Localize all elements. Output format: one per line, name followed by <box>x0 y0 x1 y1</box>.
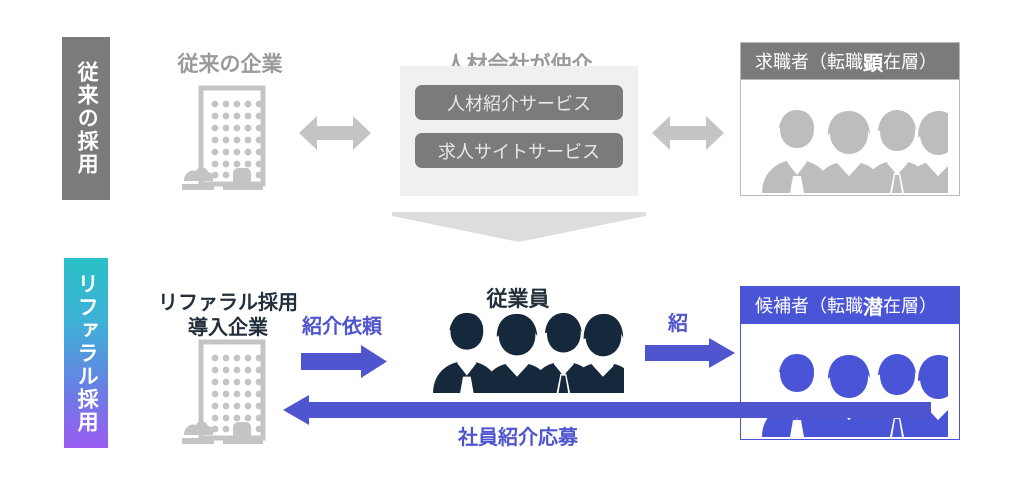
double-arrow-company-agency <box>299 112 371 154</box>
four-people-icon <box>412 310 624 393</box>
row-badge-legacy: 従来の採用 <box>62 37 110 200</box>
row-badge-referral: リファラル採用 <box>64 258 108 448</box>
referral-request-label: 紹介依頼 <box>302 310 382 339</box>
candidates-title-emphasis: 潜 <box>863 291 883 320</box>
employees-heading: 従業員 <box>487 283 550 313</box>
agency-panel: 人材紹介サービス 求人サイトサービス <box>400 66 638 196</box>
job-seekers-title-prefix: 求職者（転職 <box>755 48 863 74</box>
introduction-label: 紹 <box>668 307 694 336</box>
down-chevron-icon <box>392 212 646 242</box>
four-people-icon <box>752 107 948 193</box>
office-building-icon <box>178 82 286 192</box>
legacy-company-heading: 従来の企業 <box>178 48 283 78</box>
candidates-title: 候補者（転職潜在層） <box>741 287 959 323</box>
job-seekers-box: 求職者（転職顕在層） <box>740 42 960 196</box>
introduction-arrow <box>645 338 735 368</box>
employee-referral-application-arrow <box>283 395 931 425</box>
agency-service-pill-2[interactable]: 求人サイトサービス <box>415 133 623 168</box>
job-seekers-body <box>741 79 959 193</box>
referral-request-arrow <box>301 345 387 378</box>
job-seekers-title-suffix: 在層） <box>883 48 937 74</box>
employee-referral-application-label: 社員紹介応募 <box>458 421 578 450</box>
double-arrow-agency-seekers <box>652 112 724 154</box>
office-building-icon <box>178 336 286 446</box>
diagram-canvas: 従来の採用 従来の企業 人材会社が仲介 人材紹介サービス 求人サイトサービス <box>0 0 1024 478</box>
candidates-title-prefix: 候補者（転職 <box>755 292 863 318</box>
job-seekers-title-emphasis: 顕 <box>863 47 883 76</box>
job-seekers-title: 求職者（転職顕在層） <box>741 43 959 79</box>
candidates-title-suffix: 在層） <box>883 292 937 318</box>
agency-service-pill-1[interactable]: 人材紹介サービス <box>415 85 623 120</box>
